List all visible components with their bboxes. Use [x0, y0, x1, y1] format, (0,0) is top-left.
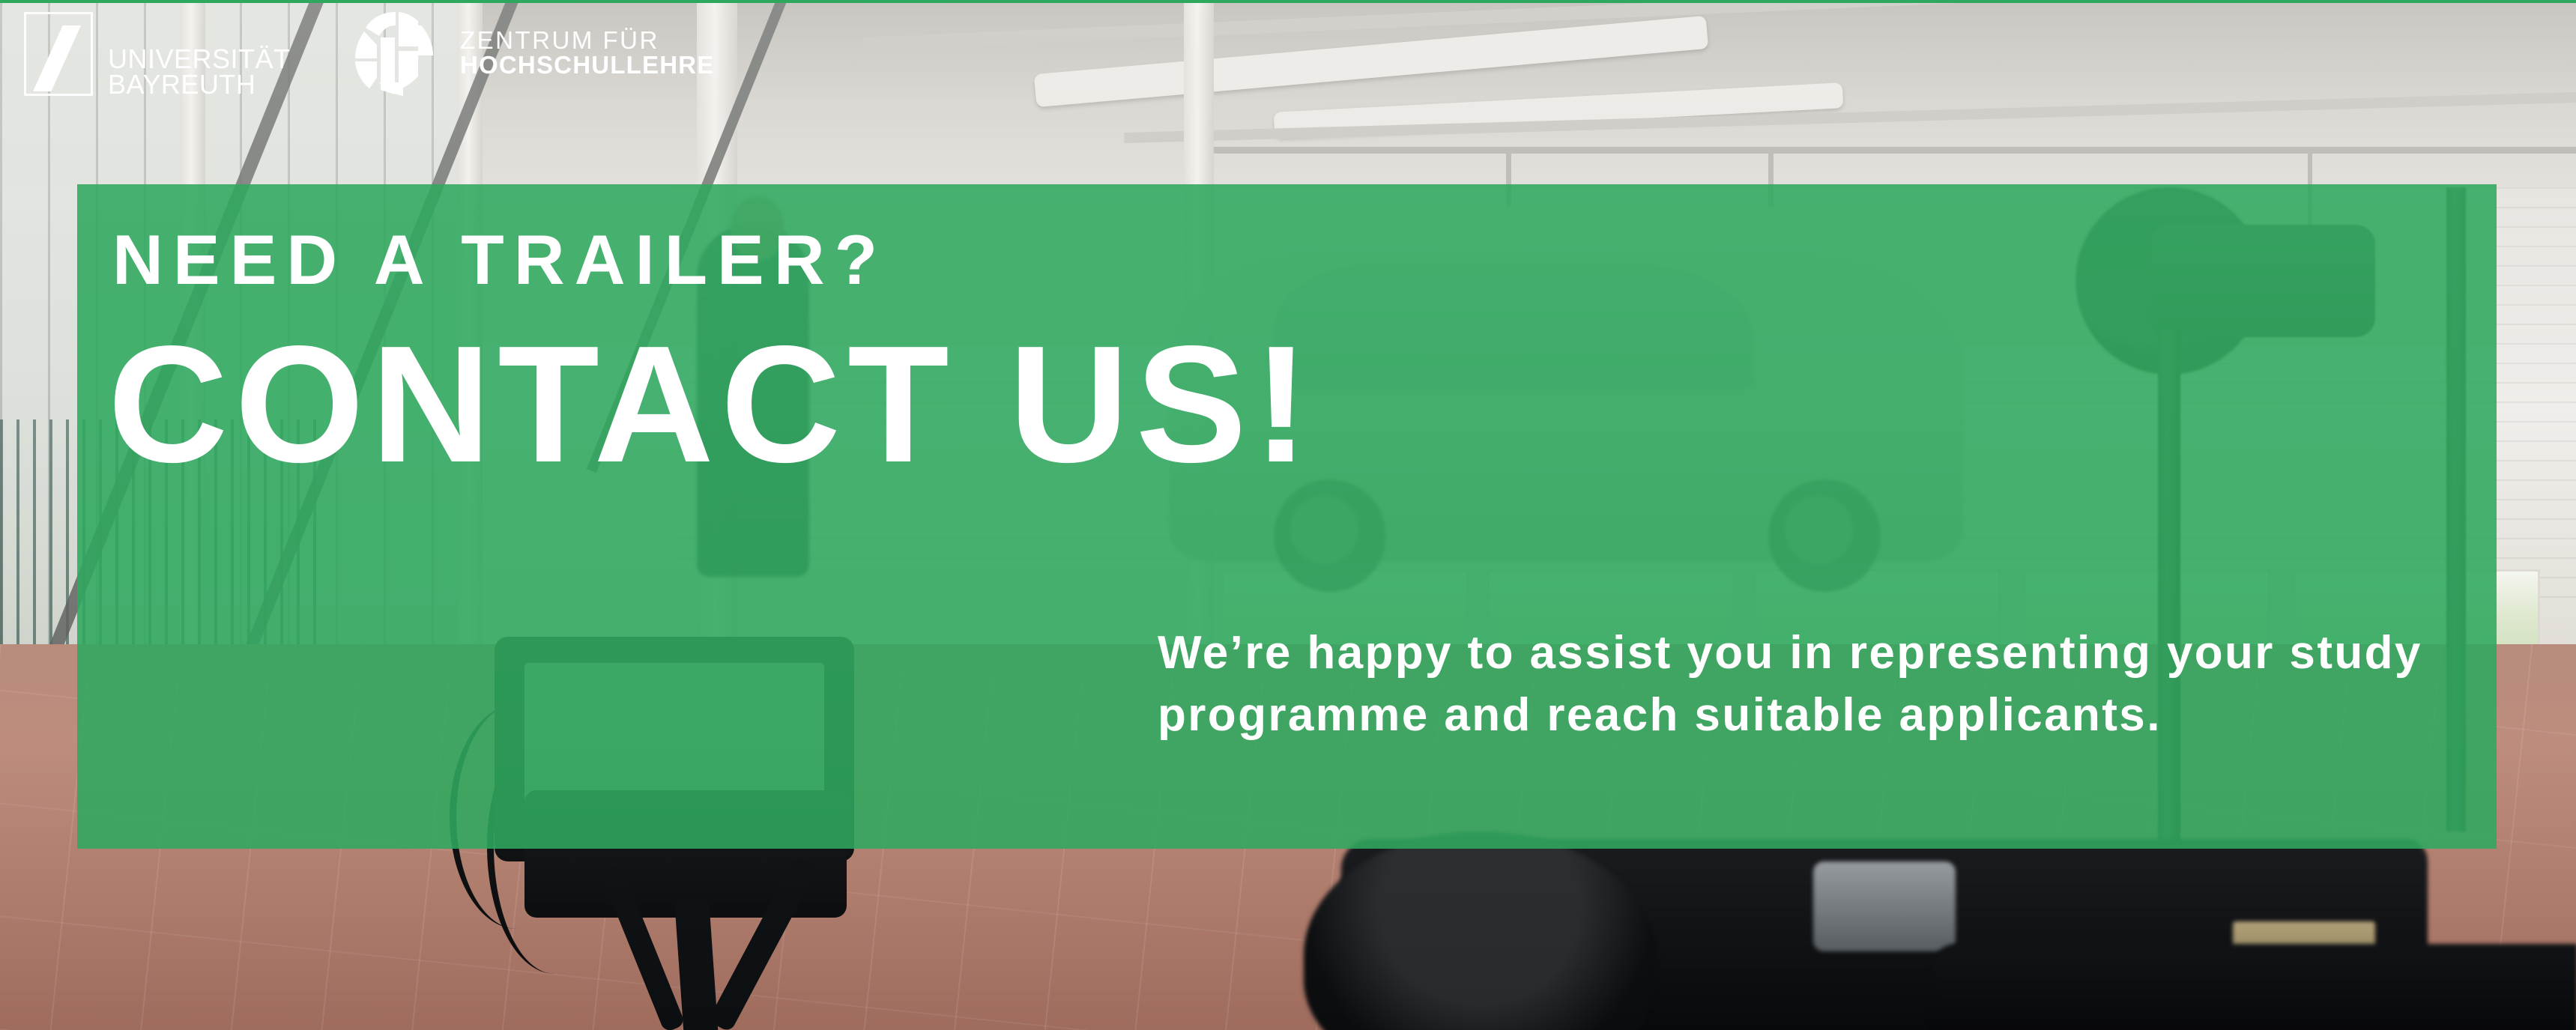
university-logo[interactable]: UNIVERSITÄT BAYREUTH: [24, 12, 291, 97]
kicker-text: NEED A TRAILER?: [112, 225, 1316, 295]
logo-bar: UNIVERSITÄT BAYREUTH: [0, 0, 2576, 105]
university-name-line2: BAYREUTH: [108, 72, 291, 97]
ubt-diagonal-slash-mark-icon: [24, 12, 93, 96]
headline-block: NEED A TRAILER? CONTACT US!: [112, 225, 1316, 485]
university-name-line1: UNIVERSITÄT: [108, 46, 291, 72]
promotional-banner: UNIVERSITÄT BAYREUTH: [0, 0, 2576, 1030]
body-paragraph: We’re happy to assist you in representin…: [1158, 622, 2446, 746]
university-wordmark: UNIVERSITÄT BAYREUTH: [108, 46, 291, 97]
center-logo[interactable]: ZENTRUM FÜR HOCHSCHULLEHRE: [352, 7, 714, 97]
center-name-line1: ZENTRUM FÜR: [460, 28, 714, 52]
zhl-4h-monogram-icon: [352, 7, 442, 97]
center-wordmark: ZENTRUM FÜR HOCHSCHULLEHRE: [460, 28, 714, 77]
page-title: CONTACT US!: [108, 325, 1316, 485]
center-name-line2: HOCHSCHULLEHRE: [460, 52, 714, 77]
